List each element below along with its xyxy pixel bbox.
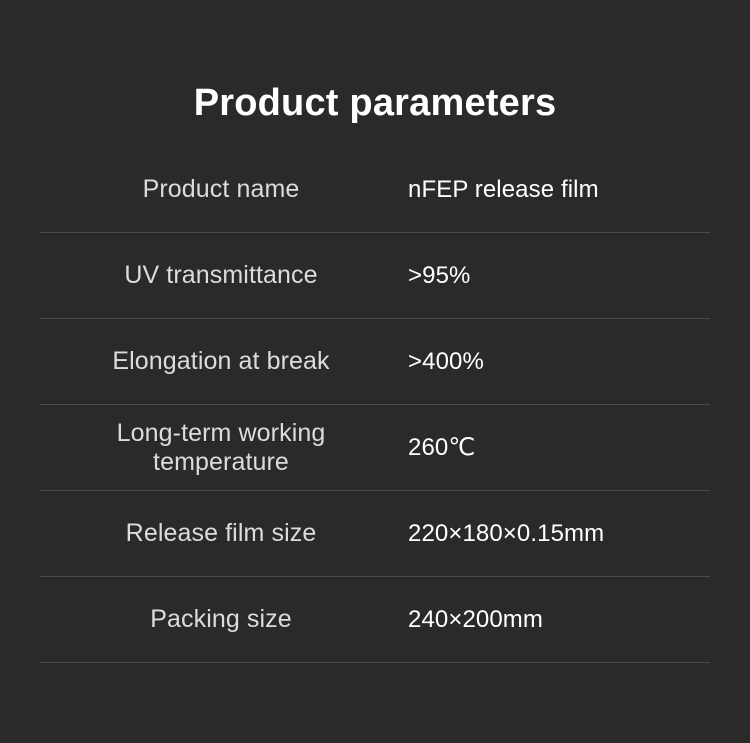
spec-value-cell: >400%: [408, 319, 484, 404]
table-row: Elongation at break >400%: [40, 319, 710, 405]
spec-label-line: Release film size: [126, 519, 317, 548]
table-row: UV transmittance >95%: [40, 233, 710, 319]
spec-value-cell: 220×180×0.15mm: [408, 491, 604, 576]
table-row: Product name nFEP release film: [40, 147, 710, 233]
spec-value-cell: >95%: [408, 233, 470, 318]
table-row: Release film size 220×180×0.15mm: [40, 491, 710, 577]
spec-label-cell: Long-term working temperature: [56, 405, 386, 490]
spec-label-line: Packing size: [150, 605, 292, 634]
spec-label-cell: Elongation at break: [56, 319, 386, 404]
spec-label-cell: UV transmittance: [56, 233, 386, 318]
spec-label-line: Product name: [143, 175, 300, 204]
spec-label-line: Long-term working: [117, 419, 326, 448]
spec-label-cell: Product name: [56, 147, 386, 232]
specification-table: Product name nFEP release film UV transm…: [40, 147, 710, 663]
spec-value-cell: 260℃: [408, 405, 475, 490]
spec-label-cell: Packing size: [56, 577, 386, 662]
table-row: Long-term working temperature 260℃: [40, 405, 710, 491]
spec-label-cell: Release film size: [56, 491, 386, 576]
page-title: Product parameters: [0, 79, 750, 127]
table-row: Packing size 240×200mm: [40, 577, 710, 663]
spec-value-cell: nFEP release film: [408, 147, 599, 232]
spec-label-line: UV transmittance: [124, 261, 317, 290]
spec-label-line: temperature: [153, 448, 289, 477]
product-parameters-page: Product parameters Product name nFEP rel…: [0, 0, 750, 743]
spec-value-cell: 240×200mm: [408, 577, 543, 662]
spec-label-line: Elongation at break: [112, 347, 329, 376]
